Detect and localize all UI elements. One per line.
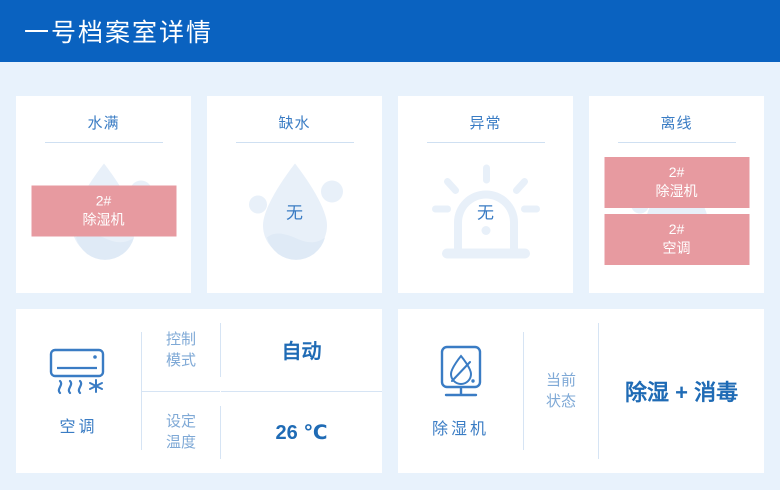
alert-item[interactable]: 2# 除湿机	[31, 186, 176, 237]
status-card-abnormal[interactable]: 异常	[398, 96, 573, 293]
status-card-water-full[interactable]: 水满 2# 除湿机	[16, 96, 191, 293]
card-title-divider	[236, 142, 354, 143]
card-body: 无	[207, 143, 382, 279]
alert-device-id: 2#	[604, 220, 749, 239]
property-label-line1: 当前	[524, 370, 598, 391]
app-page: 一号档案室详情 水满 2# 除湿机	[0, 0, 780, 490]
card-status-text: 无	[398, 199, 573, 224]
property-label: 控制 模式	[142, 329, 220, 371]
property-row-set-temperature: 设定 温度 26 ℃	[142, 392, 382, 474]
air-conditioner-icon	[48, 346, 110, 403]
device-label: 空调	[59, 413, 97, 437]
device-properties: 控制 模式 自动 设定 温度 26 ℃	[142, 309, 382, 473]
alert-list: 2# 除湿机	[31, 186, 176, 237]
alert-device-name: 空调	[604, 239, 749, 258]
card-title: 水满	[16, 96, 191, 133]
device-identity: 除湿机	[398, 344, 523, 439]
device-properties: 当前 状态 除湿 + 消毒	[524, 309, 764, 473]
property-value: 26 ℃	[221, 420, 382, 445]
card-body: 2# 除湿机	[16, 143, 191, 279]
property-label-line2: 模式	[142, 350, 220, 371]
device-identity: 空调	[16, 346, 141, 437]
card-title: 缺水	[207, 96, 382, 133]
property-label-line1: 控制	[142, 329, 220, 350]
card-title: 异常	[398, 96, 573, 133]
alert-list: 2# 除湿机 2# 空调	[604, 157, 749, 265]
device-label: 除湿机	[432, 415, 489, 439]
dehumidifier-icon	[433, 344, 489, 405]
alert-device-id: 2#	[31, 192, 176, 211]
card-title-divider	[45, 142, 163, 143]
property-label-line1: 设定	[142, 411, 220, 432]
device-panels-row: 空调 控制 模式 自动	[0, 293, 780, 473]
property-value: 除湿 + 消毒	[599, 375, 764, 407]
property-label: 当前 状态	[524, 370, 598, 412]
card-body: 2# 除湿机 2# 空调	[589, 143, 764, 279]
device-panel-air-conditioner[interactable]: 空调 控制 模式 自动	[16, 309, 382, 473]
alert-device-name: 除湿机	[604, 182, 749, 201]
property-value: 自动	[221, 335, 382, 364]
alert-device-id: 2#	[604, 163, 749, 182]
card-body: 无	[398, 143, 573, 279]
alert-device-name: 除湿机	[31, 211, 176, 230]
device-panel-dehumidifier[interactable]: 除湿机 当前 状态 除湿 + 消毒	[398, 309, 764, 473]
card-title-divider	[618, 142, 736, 143]
property-label-line2: 温度	[142, 432, 220, 453]
card-title-divider	[427, 142, 545, 143]
status-card-offline[interactable]: 离线 2# 除湿机 2#	[589, 96, 764, 293]
alert-item[interactable]: 2# 空调	[604, 214, 749, 265]
property-label-line2: 状态	[524, 391, 598, 412]
status-cards-row: 水满 2# 除湿机	[0, 62, 780, 293]
property-row-current-status: 当前 状态 除湿 + 消毒	[524, 309, 764, 473]
alert-item[interactable]: 2# 除湿机	[604, 157, 749, 208]
property-label: 设定 温度	[142, 411, 220, 453]
status-card-water-shortage[interactable]: 缺水 无	[207, 96, 382, 293]
card-status-text: 无	[207, 199, 382, 224]
card-title: 离线	[589, 96, 764, 133]
page-title: 一号档案室详情	[24, 13, 213, 49]
page-header: 一号档案室详情	[0, 0, 780, 62]
property-row-control-mode: 控制 模式 自动	[142, 309, 382, 391]
